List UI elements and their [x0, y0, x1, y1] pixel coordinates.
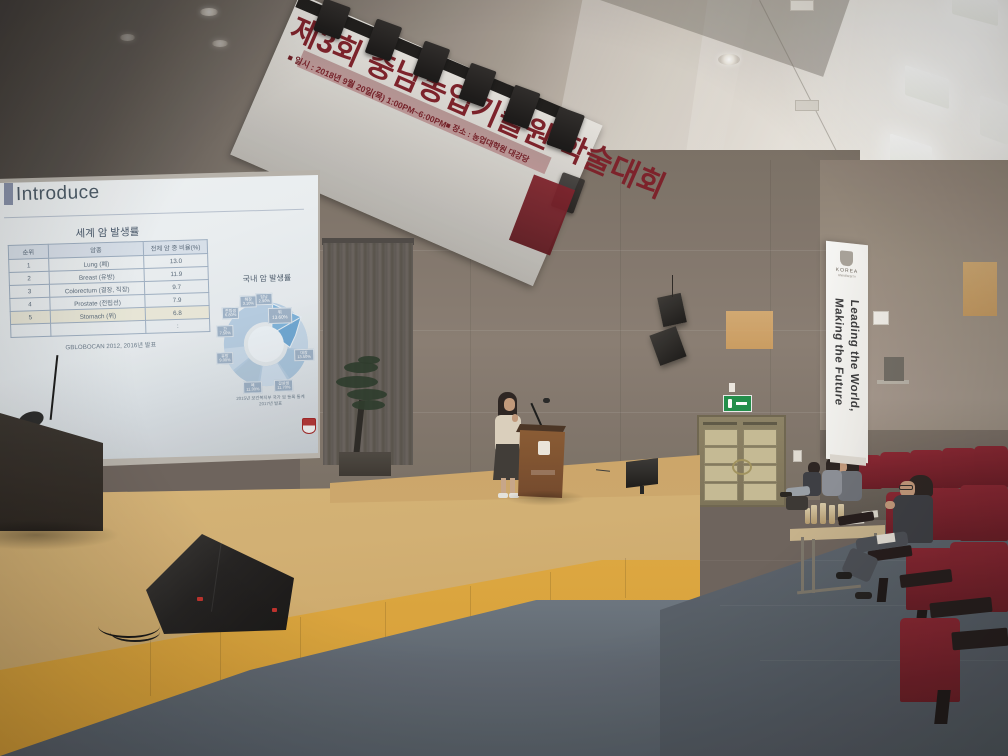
stage-panel-seam: [150, 640, 151, 696]
banner-slogan: Leading the World, Making the Future: [830, 297, 861, 455]
speaker-led-indicator: [272, 608, 277, 612]
podium-emblem-plate: [538, 441, 550, 455]
decorative-tree-foliage: [336, 376, 378, 388]
wall-accent-panel: [963, 262, 997, 316]
emergency-light: [729, 383, 735, 392]
decorative-tree-foliage: [358, 356, 380, 364]
door-panel: [704, 483, 738, 501]
auditorium-seat: [974, 446, 1008, 488]
door-handle[interactable]: [732, 459, 752, 475]
speaker-led-indicator: [197, 597, 203, 601]
slogan-line-2: Making the Future: [833, 297, 845, 406]
water-bottle: [820, 503, 826, 524]
door-push-bar[interactable]: [743, 422, 777, 425]
stage-curtain: [323, 243, 413, 465]
speaker-cable: [110, 622, 160, 642]
recessed-downlight: [120, 34, 135, 41]
decorative-tree-foliage: [347, 389, 387, 400]
lectern-shadow: [0, 520, 120, 550]
auditorium-seat: [960, 485, 1008, 541]
stage-panel-seam: [625, 558, 626, 598]
decorative-tree-foliage: [352, 400, 385, 410]
stage-side-speaker-stand: [640, 486, 644, 494]
presenter-hand: [512, 414, 518, 422]
floor-reflection: [760, 660, 1008, 661]
recessed-downlight: [200, 8, 218, 16]
water-bottle: [829, 505, 835, 524]
water-bottle: [805, 508, 810, 524]
recessed-downlight: [718, 54, 740, 65]
exit-arrow-icon: [736, 402, 747, 405]
wall-seam: [620, 160, 621, 500]
stage-panel-seam: [220, 630, 221, 686]
door-push-bar[interactable]: [703, 422, 737, 425]
wall-control-box: [873, 311, 889, 325]
recessed-downlight: [212, 40, 228, 47]
audience-shoe: [855, 592, 872, 599]
door-panel: [743, 429, 777, 446]
tree-planter: [339, 452, 391, 476]
ceiling-vent: [790, 0, 814, 11]
double-exit-doors[interactable]: [697, 415, 786, 507]
speaker-cable: [672, 275, 673, 297]
audience-torso: [822, 470, 842, 496]
shelf-object: [884, 357, 904, 381]
podium-mic-head: [543, 398, 550, 403]
presenter-face: [504, 398, 515, 411]
door-panel: [704, 429, 738, 446]
university-crest-icon: [840, 250, 853, 266]
auditorium-seat: [942, 448, 976, 488]
water-bottle: [811, 505, 817, 524]
audience-shoe: [836, 572, 852, 579]
exit-sign: [723, 395, 752, 412]
presenter-skirt: [493, 444, 522, 480]
screen-light-falloff: [0, 175, 320, 462]
projection-screen: Introduce 세계 암 발생률 순위 암종 전체 암 중 비율(%) 1 …: [0, 175, 320, 462]
wall-outlet: [793, 450, 802, 462]
table-leg: [801, 537, 804, 593]
podium-nameplate: [531, 470, 555, 475]
exit-figure-icon: [728, 399, 732, 408]
auditorium-seat: [900, 618, 960, 702]
door-panel: [743, 483, 777, 501]
table-leg: [812, 539, 815, 593]
audience-glasses-icon: [899, 485, 913, 490]
vertical-roll-banner: KOREA UNIVERSITY Leading the World, Maki…: [826, 241, 868, 463]
wall-accent-panel: [726, 311, 773, 349]
slogan-line-1: Leading the World,: [848, 299, 860, 413]
podium-shadow: [505, 490, 585, 506]
floor-bag: [786, 496, 808, 510]
auditorium-photo: 제3회 충남농업기술원 학술대회 ■ 일시 : 2018년 9월 20일(목) …: [0, 0, 1008, 756]
stage-side-speaker: [626, 458, 658, 488]
audience-hand: [885, 501, 895, 509]
ceiling-vent: [795, 100, 819, 111]
